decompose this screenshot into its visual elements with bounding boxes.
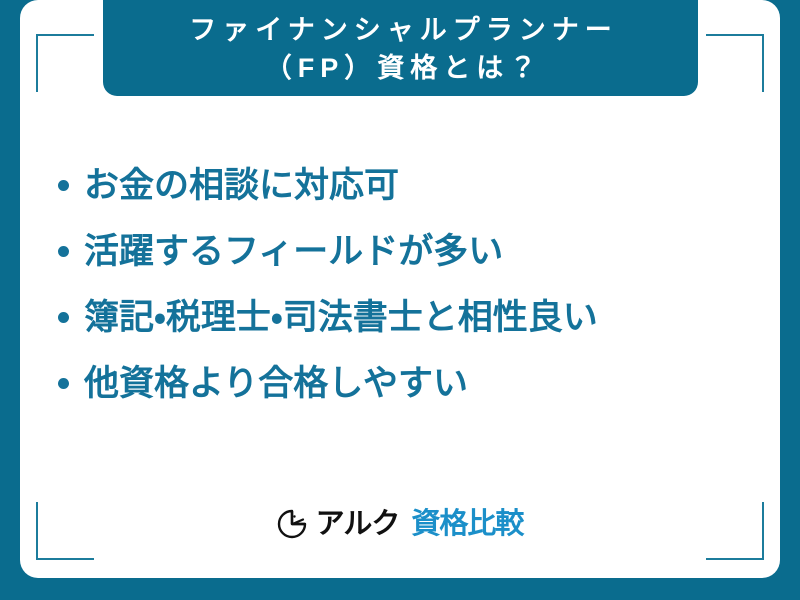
bullet-list: お金の相談に対応可 活躍するフィールドが多い 簿記・税理士・司法書士と相性良い … [58, 152, 752, 416]
list-item-label: お金の相談に対応可 [84, 168, 399, 203]
list-item-label: 活躍するフィールドが多い [84, 234, 503, 269]
list-item: お金の相談に対応可 [58, 152, 752, 218]
corner-bracket-top-left [36, 34, 94, 92]
brand-logo: アルク 資格比較 [20, 508, 780, 540]
slide-background: お金の相談に対応可 活躍するフィールドが多い 簿記・税理士・司法書士と相性良い … [0, 0, 800, 600]
logo-main-text: アルク [316, 510, 400, 539]
list-item-label: 他資格より合格しやすい [84, 366, 468, 401]
page-title-line2: （FP）資格とは？ [259, 49, 543, 87]
bullet-dot-icon [58, 246, 69, 257]
alc-bird-icon [277, 508, 309, 540]
list-item: 簿記・税理士・司法書士と相性良い [58, 284, 752, 350]
list-item: 他資格より合格しやすい [58, 350, 752, 416]
bullet-dot-icon [58, 312, 69, 323]
list-item: 活躍するフィールドが多い [58, 218, 752, 284]
corner-bracket-top-right [706, 34, 764, 92]
bullet-dot-icon [58, 378, 69, 389]
title-banner: ファイナンシャルプランナー （FP）資格とは？ [103, 0, 698, 96]
list-item-label: 簿記・税理士・司法書士と相性良い [84, 300, 598, 335]
logo-sub-text: 資格比較 [411, 510, 523, 539]
bullet-dot-icon [58, 180, 69, 191]
page-title-line1: ファイナンシャルプランナー [183, 11, 617, 49]
